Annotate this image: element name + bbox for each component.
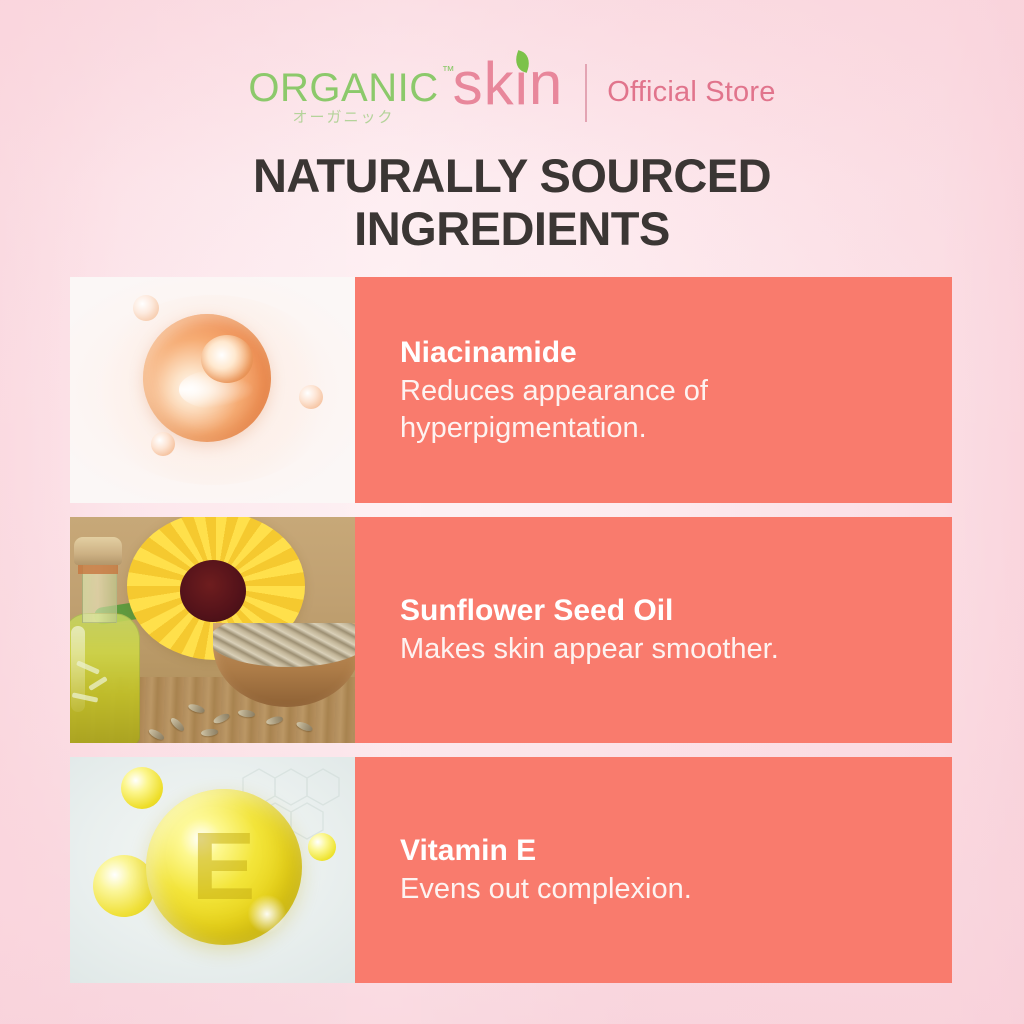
ingredient-card-list: Niacinamide Reduces appearance of hyperp… bbox=[70, 277, 952, 997]
small-capsule-bubble bbox=[308, 833, 336, 861]
product-infographic-poster: ORGANIC ™ オーガニック skin Official Store NAT… bbox=[0, 0, 1024, 1024]
organic-skin-logo: ORGANIC ™ オーガニック bbox=[248, 62, 438, 125]
ingredient-name: Vitamin E bbox=[400, 832, 928, 870]
official-store-label: Official Store bbox=[607, 76, 775, 109]
ingredient-name: Niacinamide bbox=[400, 334, 928, 372]
ingredient-card-body: Vitamin E Evens out complexion. bbox=[355, 757, 952, 983]
sunflower-oil-image bbox=[70, 517, 355, 743]
brand-header: ORGANIC ™ オーガニック skin Official Store bbox=[0, 62, 1024, 125]
page-title: NATURALLY SOURCED INGREDIENTS bbox=[0, 150, 1024, 255]
small-bubble-icon bbox=[299, 385, 323, 409]
page-title-line-1: NATURALLY SOURCED bbox=[253, 149, 771, 202]
seeds-in-bowl bbox=[213, 623, 355, 667]
logo-japanese-text: オーガニック bbox=[292, 110, 394, 125]
logo-organic-text: ORGANIC bbox=[248, 68, 438, 108]
bottle-cork bbox=[74, 537, 122, 565]
ingredient-name: Sunflower Seed Oil bbox=[400, 592, 928, 630]
small-bubble-icon bbox=[151, 432, 175, 456]
ingredient-description: Evens out complexion. bbox=[400, 871, 928, 908]
ingredient-description: Makes skin appear smoother. bbox=[400, 631, 928, 668]
header-divider bbox=[585, 64, 587, 122]
logo-skin-text: skin bbox=[453, 54, 564, 114]
logo-skin-wordmark: skin bbox=[453, 54, 564, 114]
ingredient-card: E Vitamin E Evens out complexion. bbox=[70, 757, 952, 983]
ingredient-card: Sunflower Seed Oil Makes skin appear smo… bbox=[70, 517, 952, 743]
small-bubble-icon bbox=[133, 295, 159, 321]
vitamin-e-capsule-image: E bbox=[70, 757, 355, 983]
capsule-sparkle bbox=[245, 892, 289, 936]
large-serum-droplet bbox=[143, 314, 271, 442]
inner-droplet-highlight bbox=[201, 335, 253, 383]
serum-droplet-image bbox=[70, 277, 355, 503]
ingredient-card: Niacinamide Reduces appearance of hyperp… bbox=[70, 277, 952, 503]
oil-bottle bbox=[70, 535, 140, 743]
ingredient-card-body: Niacinamide Reduces appearance of hyperp… bbox=[355, 277, 952, 503]
ingredient-description: Reduces appearance of hyperpigmentation. bbox=[400, 373, 928, 446]
page-title-line-2: INGREDIENTS bbox=[0, 203, 1024, 256]
sunflower-center bbox=[180, 560, 246, 622]
ingredient-card-body: Sunflower Seed Oil Makes skin appear smo… bbox=[355, 517, 952, 743]
